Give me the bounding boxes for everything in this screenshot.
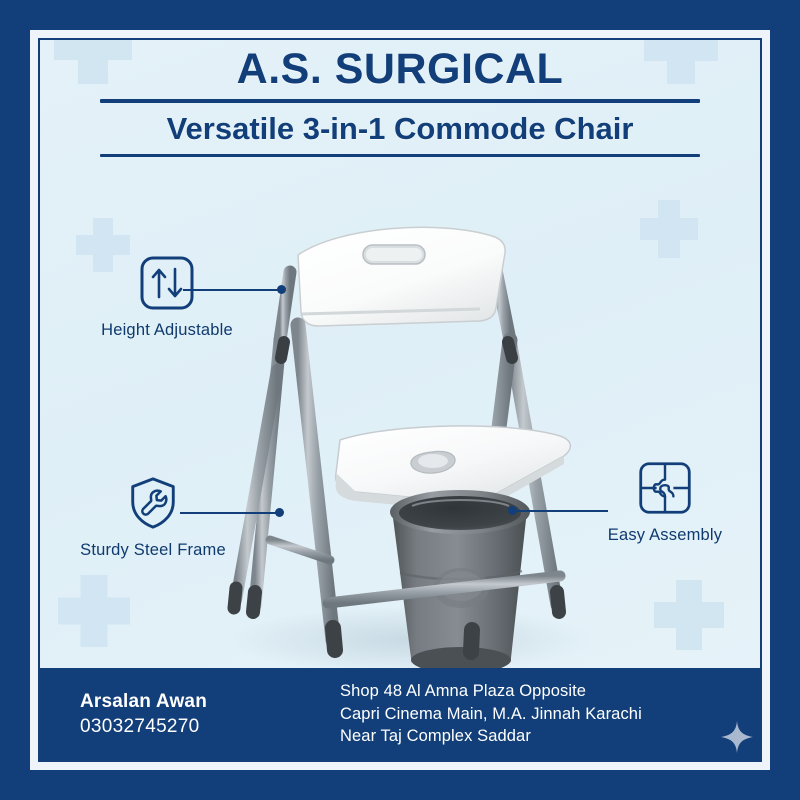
feature-sturdy-steel-frame: Sturdy Steel Frame [68, 475, 238, 560]
puzzle-icon [637, 460, 693, 516]
product-poster: A.S. SURGICAL Versatile 3-in-1 Commode C… [0, 0, 800, 800]
commode-chair-illustration [40, 40, 760, 760]
address-line: Shop 48 Al Amna Plaza Opposite [340, 680, 760, 702]
feature-label: Height Adjustable [82, 321, 252, 340]
address-line: Near Taj Complex Saddar [340, 725, 760, 747]
contact-address: Shop 48 Al Amna Plaza Opposite Capri Cin… [340, 680, 760, 747]
shield-wrench-icon [125, 475, 181, 531]
connector-line-easy-assembly [512, 510, 608, 512]
contact-person: Arsalan Awan 03032745270 [40, 689, 340, 739]
connector-dot-sturdy-steel-frame [275, 508, 284, 517]
contact-name: Arsalan Awan [80, 689, 340, 714]
contact-banner: Arsalan Awan 03032745270 Shop 48 Al Amna… [40, 668, 760, 760]
up-down-arrows-icon [139, 255, 195, 311]
feature-height-adjustable: Height Adjustable [82, 255, 252, 340]
poster-content-area: A.S. SURGICAL Versatile 3-in-1 Commode C… [40, 40, 760, 760]
feature-label: Easy Assembly [580, 526, 750, 545]
address-line: Capri Cinema Main, M.A. Jinnah Karachi [340, 703, 760, 725]
feature-label: Sturdy Steel Frame [68, 541, 238, 560]
connector-dot-height-adjustable [277, 285, 286, 294]
connector-line-sturdy-steel-frame [180, 512, 280, 514]
connector-dot-easy-assembly [508, 506, 517, 515]
feature-easy-assembly: Easy Assembly [580, 460, 750, 545]
contact-phone[interactable]: 03032745270 [80, 714, 340, 739]
connector-line-height-adjustable [183, 289, 282, 291]
